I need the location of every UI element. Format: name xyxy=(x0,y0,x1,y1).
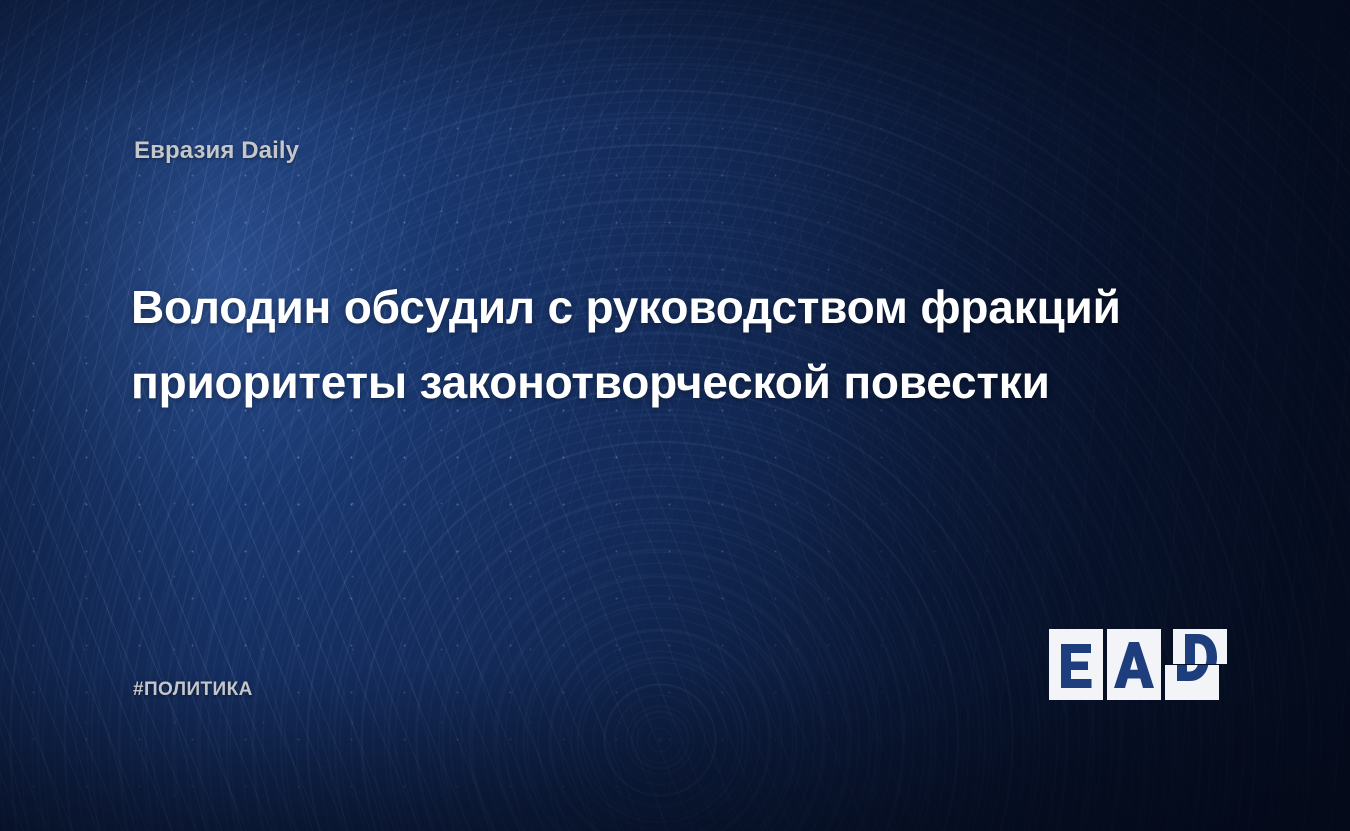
logo-tile-e xyxy=(1049,629,1103,700)
news-share-card: Евразия Daily Володин обсудил с руководс… xyxy=(0,0,1350,831)
category-hashtag: #ПОЛИТИКА xyxy=(133,679,253,701)
logo-d-upper-half xyxy=(1173,629,1227,664)
card-content: Евразия Daily Володин обсудил с руководс… xyxy=(0,0,1350,831)
eadaily-logo xyxy=(1049,629,1219,700)
headline: Володин обсудил с руководством фракций п… xyxy=(131,270,1241,420)
publication-name: Евразия Daily xyxy=(134,137,299,165)
logo-tile-a xyxy=(1107,629,1161,700)
logo-d-lower-half xyxy=(1165,665,1219,700)
logo-tile-d xyxy=(1165,629,1219,700)
